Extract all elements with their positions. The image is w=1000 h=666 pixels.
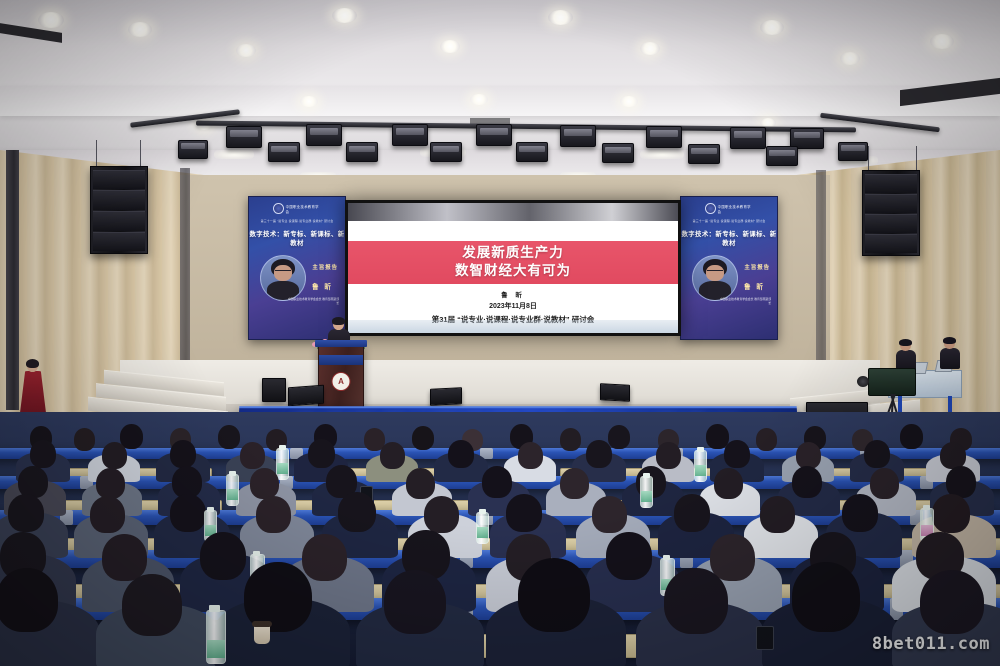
banner-subtitle: 第三十一届 “说专业·说课程·说专业群·说教材” 研讨会 bbox=[249, 219, 345, 223]
ceiling-downlight bbox=[236, 44, 256, 57]
wall-pillar bbox=[816, 170, 826, 370]
audience-head bbox=[560, 428, 581, 451]
audience-head bbox=[308, 439, 335, 468]
stage-monitor bbox=[288, 385, 324, 407]
water-bottle bbox=[640, 476, 653, 508]
ceiling-downlight bbox=[300, 96, 318, 107]
audience-head bbox=[586, 440, 612, 468]
av-crew-member bbox=[896, 340, 916, 370]
stage-light bbox=[688, 144, 720, 164]
stage-light bbox=[838, 142, 868, 161]
audience-head bbox=[218, 425, 240, 449]
stage-light bbox=[226, 126, 262, 148]
audience-head bbox=[170, 440, 196, 468]
banner-role-label: 主旨报告 bbox=[744, 263, 770, 271]
video-camera bbox=[868, 368, 916, 396]
audience-head bbox=[864, 440, 890, 468]
audience-head bbox=[412, 426, 434, 450]
coffee-cup bbox=[254, 624, 270, 644]
audience-head bbox=[870, 468, 899, 499]
audience-head bbox=[900, 424, 923, 449]
ceiling-downlight bbox=[128, 22, 152, 37]
audience-head bbox=[406, 468, 435, 499]
watermark: 8bet011.com bbox=[872, 634, 990, 654]
audience-head bbox=[518, 442, 543, 469]
banner-speaker-name: 鲁 昕 bbox=[744, 281, 765, 291]
slide-title-line2: 数智财经大有可为 bbox=[455, 262, 571, 280]
ceiling-downlight bbox=[640, 42, 660, 55]
stage-light bbox=[476, 124, 512, 146]
ceiling-downlight bbox=[214, 150, 254, 159]
audience-head bbox=[250, 468, 279, 499]
audience-head bbox=[920, 570, 984, 634]
audience-head bbox=[74, 428, 95, 451]
audience-head bbox=[714, 468, 743, 499]
audience-head bbox=[256, 496, 291, 533]
stage-light bbox=[430, 142, 462, 162]
banner-title: 数字技术：新专标、新课标、新教材 bbox=[249, 229, 345, 247]
audience-head bbox=[448, 440, 474, 468]
audience-head bbox=[842, 494, 878, 532]
ceiling-downlight bbox=[930, 34, 954, 49]
ceiling-downlight bbox=[332, 8, 357, 23]
stage-monitor bbox=[430, 387, 462, 406]
ceiling-downlight bbox=[38, 12, 64, 28]
water-bottle bbox=[226, 474, 239, 506]
audience-head bbox=[760, 496, 795, 533]
slide-speaker: 鲁 昕 bbox=[501, 289, 525, 299]
audience-head bbox=[796, 442, 821, 469]
audience-head bbox=[608, 425, 630, 449]
audience-head bbox=[90, 496, 125, 533]
audience-head bbox=[170, 494, 206, 532]
stage-light bbox=[268, 142, 300, 162]
audience-head bbox=[792, 466, 822, 498]
audience-head bbox=[424, 496, 459, 533]
audience-head bbox=[674, 494, 710, 532]
ceiling-band-upper bbox=[0, 86, 1000, 116]
podium-band bbox=[319, 355, 363, 366]
audience-head bbox=[380, 442, 405, 469]
podium-emblem: A bbox=[332, 372, 351, 391]
audience-head bbox=[122, 574, 182, 636]
audience-seating-area bbox=[0, 412, 1000, 666]
speaker-portrait bbox=[692, 255, 738, 301]
av-crew-member bbox=[940, 338, 960, 368]
audience-head bbox=[102, 442, 127, 469]
water-bottle bbox=[694, 450, 707, 482]
stage-light bbox=[178, 140, 208, 159]
banner-affiliation: 中国职业技术教育学会会长 教育部原副部长 bbox=[719, 297, 771, 306]
stage-light bbox=[646, 126, 682, 148]
organization-name: 中国职业技术教育学会 bbox=[718, 204, 753, 214]
audience-head bbox=[8, 494, 44, 532]
slide-title: 发展新质生产力 数智财经大有可为 bbox=[348, 242, 678, 282]
banner-subtitle: 第三十一届 “说专业·说课程·说专业群·说教材” 研讨会 bbox=[681, 219, 777, 223]
speaker-rigging-wire bbox=[96, 140, 97, 168]
ceiling-downlight bbox=[548, 10, 573, 25]
audience-head bbox=[710, 534, 755, 581]
stage-light bbox=[766, 146, 798, 166]
ceiling-downlight bbox=[620, 96, 638, 107]
audience-head bbox=[940, 442, 966, 469]
seat-row bbox=[0, 448, 1000, 459]
audience-head bbox=[592, 496, 627, 533]
audience-head bbox=[656, 442, 681, 469]
stage-light bbox=[730, 127, 766, 149]
slide-date: 2023年11月8日 bbox=[489, 301, 537, 311]
stage-light bbox=[306, 124, 342, 146]
audience-head bbox=[0, 568, 58, 632]
camera-lens bbox=[857, 376, 869, 387]
water-bottle bbox=[276, 448, 289, 480]
audience-head bbox=[384, 570, 446, 634]
audience-head bbox=[606, 532, 652, 580]
seal-icon bbox=[705, 203, 716, 214]
audience-head bbox=[756, 428, 777, 451]
audience-head bbox=[724, 440, 750, 468]
association-logo: 中国职业技术教育学会 bbox=[705, 203, 753, 214]
seal-icon bbox=[273, 203, 284, 214]
podium: A bbox=[318, 344, 364, 408]
slide-footer-graphic bbox=[348, 320, 678, 333]
ceiling-downlight bbox=[760, 20, 784, 35]
stage-light bbox=[516, 142, 548, 162]
slide-title-line1: 发展新质生产力 bbox=[462, 244, 564, 262]
audience-head bbox=[560, 468, 589, 499]
stage-monitor bbox=[600, 383, 630, 402]
audience-head bbox=[102, 534, 147, 581]
association-logo: 中国职业技术教育学会 bbox=[273, 203, 321, 214]
ceiling-downlight bbox=[440, 40, 460, 53]
smartphone bbox=[756, 626, 774, 650]
projection-screen: 发展新质生产力 数智财经大有可为 鲁 昕 2023年11月8日 第31届 “说专… bbox=[345, 200, 681, 336]
water-bottle bbox=[476, 512, 489, 544]
banner-role-label: 主旨报告 bbox=[312, 263, 338, 271]
audience-head bbox=[96, 468, 125, 499]
banner-title: 数字技术：新专标、新课标、新教材 bbox=[681, 229, 777, 247]
stage-light bbox=[560, 125, 596, 147]
stage-light bbox=[346, 142, 378, 162]
audience-head bbox=[792, 562, 860, 632]
conference-hall-photo: 中国职业技术教育学会 第三十一届 “说专业·说课程·说专业群·说教材” 研讨会 … bbox=[0, 0, 1000, 666]
stage-monitor bbox=[262, 378, 286, 402]
speaker-portrait bbox=[260, 255, 306, 301]
screen-glare bbox=[348, 203, 678, 221]
stage-light bbox=[602, 143, 634, 163]
side-banner-right: 中国职业技术教育学会 第三十一届 “说专业·说课程·说专业群·说教材” 研讨会 … bbox=[680, 196, 778, 340]
podium-top bbox=[315, 340, 367, 347]
audience-head bbox=[518, 558, 590, 632]
audience-head bbox=[338, 492, 376, 532]
banner-speaker-name: 鲁 昕 bbox=[312, 281, 333, 291]
audience-head bbox=[506, 494, 542, 532]
water-bottle bbox=[206, 610, 226, 664]
speaker-rigging-wire bbox=[868, 146, 869, 172]
ceiling-downlight bbox=[840, 52, 860, 65]
audience-head bbox=[30, 440, 56, 468]
audience-head bbox=[302, 534, 347, 581]
audience-head bbox=[932, 494, 970, 533]
line-array-speaker bbox=[90, 166, 148, 254]
audience-head bbox=[200, 532, 246, 580]
banner-affiliation: 中国职业技术教育学会会长 教育部原副部长 bbox=[287, 297, 339, 306]
ceiling-downlight bbox=[470, 94, 488, 105]
ceiling-downlight bbox=[640, 150, 684, 159]
organization-name: 中国职业技术教育学会 bbox=[286, 204, 321, 214]
speaker-rigging-wire bbox=[916, 146, 917, 172]
audience-head bbox=[240, 442, 265, 469]
audience-head bbox=[482, 466, 512, 498]
speaker-rigging-wire bbox=[140, 140, 141, 168]
line-array-speaker bbox=[862, 170, 920, 256]
audience-head bbox=[664, 568, 728, 634]
stage-light bbox=[392, 124, 428, 146]
